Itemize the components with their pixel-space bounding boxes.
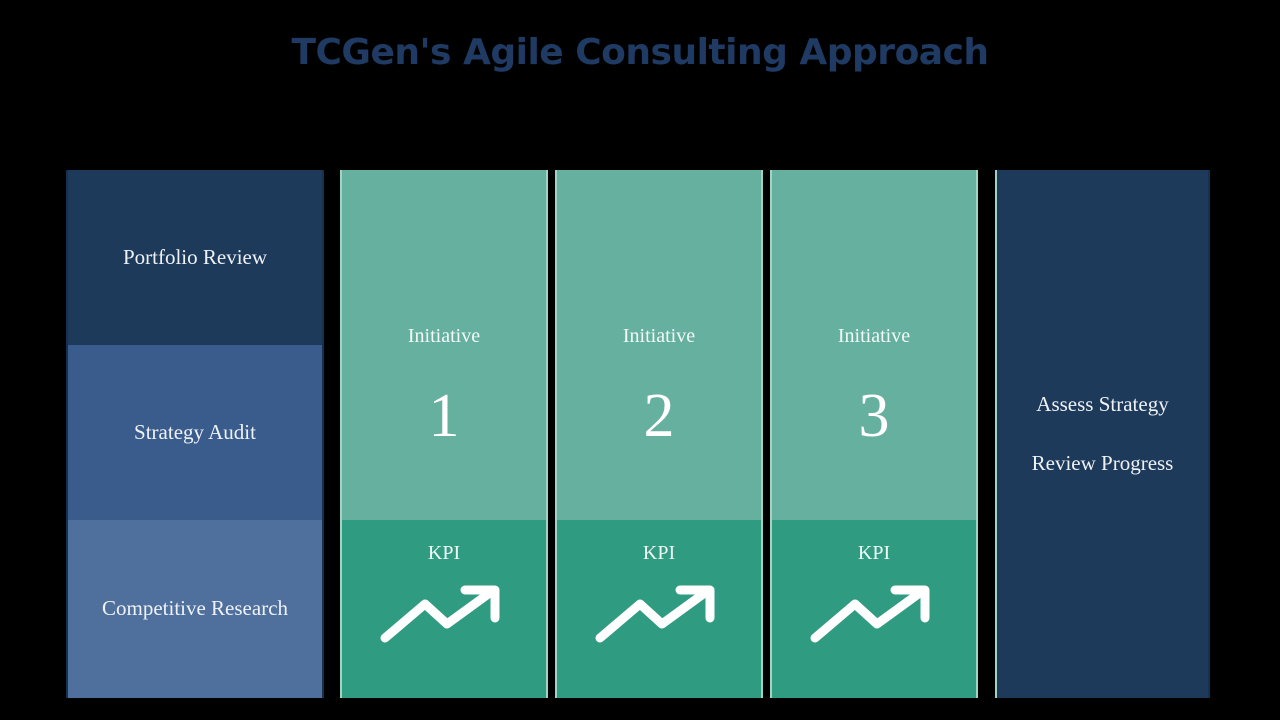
outcome-item-assess-strategy[interactable]: Assess Strategy — [1036, 392, 1168, 417]
phase-column: Portfolio Review Strategy Audit Competit… — [66, 170, 324, 698]
kpi-section: KPI — [772, 520, 976, 698]
trend-up-arrow-icon — [809, 582, 939, 644]
initiative-header: Initiative 3 — [772, 170, 976, 520]
phase-item-strategy-audit[interactable]: Strategy Audit — [68, 345, 322, 520]
initiative-label: Initiative — [342, 325, 546, 348]
phase-item-label: Portfolio Review — [123, 244, 267, 272]
initiative-header: Initiative 1 — [342, 170, 546, 520]
initiative-header: Initiative 2 — [557, 170, 761, 520]
outcome-item-review-progress[interactable]: Review Progress — [1032, 451, 1174, 476]
initiative-column-1[interactable]: Initiative 1 KPI — [340, 170, 548, 698]
phase-item-label: Strategy Audit — [134, 419, 256, 447]
initiative-number: 3 — [772, 385, 976, 447]
phase-item-competitive-research[interactable]: Competitive Research — [68, 520, 322, 698]
initiative-column-3[interactable]: Initiative 3 KPI — [770, 170, 978, 698]
phase-item-label: Competitive Research — [102, 595, 288, 623]
initiative-number: 1 — [342, 385, 546, 447]
phase-item-portfolio-review[interactable]: Portfolio Review — [68, 170, 322, 345]
kpi-label: KPI — [342, 542, 546, 565]
kpi-label: KPI — [557, 542, 761, 565]
initiative-number: 2 — [557, 385, 761, 447]
kpi-section: KPI — [342, 520, 546, 698]
kpi-label: KPI — [772, 542, 976, 565]
outcomes-panel: Assess Strategy Review Progress — [995, 170, 1210, 698]
initiative-column-2[interactable]: Initiative 2 KPI — [555, 170, 763, 698]
trend-up-arrow-icon — [594, 582, 724, 644]
trend-up-arrow-icon — [379, 582, 509, 644]
kpi-section: KPI — [557, 520, 761, 698]
page-title: TCGen's Agile Consulting Approach — [0, 32, 1280, 73]
initiative-label: Initiative — [772, 325, 976, 348]
agile-consulting-diagram: Portfolio Review Strategy Audit Competit… — [0, 170, 1280, 698]
initiative-label: Initiative — [557, 325, 761, 348]
